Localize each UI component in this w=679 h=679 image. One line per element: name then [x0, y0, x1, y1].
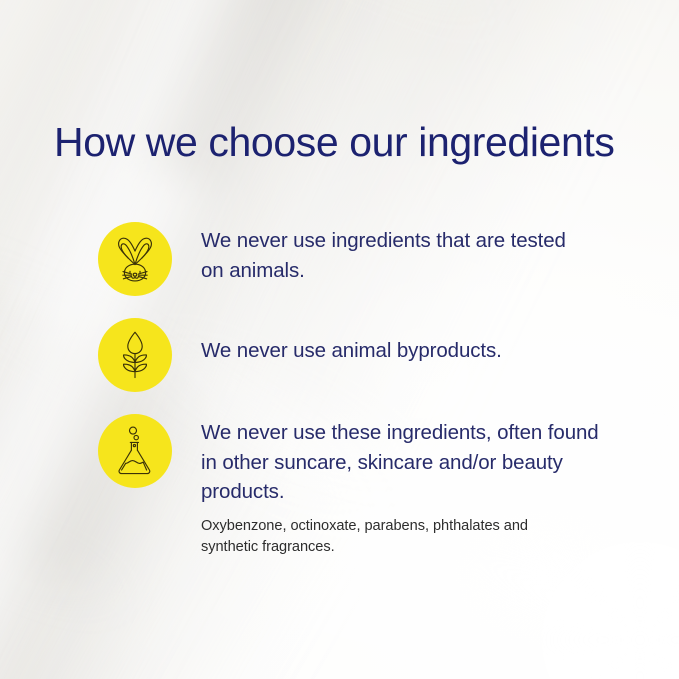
claim-subtext: Oxybenzone, octinoxate, parabens, phthal…: [201, 516, 571, 559]
claim-icon-badge: [98, 318, 172, 392]
claim-title: We never use these ingredients, often fo…: [201, 418, 601, 507]
claim-icon-badge: [98, 222, 172, 296]
claim-text-group: We never use animal byproducts.: [172, 318, 638, 366]
card-content: How we choose our ingredients: [0, 0, 679, 679]
page-title: How we choose our ingredients: [54, 120, 614, 166]
cruelty-free-bunny-icon: [113, 234, 157, 284]
list-item: We never use animal byproducts.: [98, 318, 638, 392]
ingredient-philosophy-card: How we choose our ingredients: [0, 0, 679, 679]
list-item: We never use ingredients that are tested…: [98, 222, 638, 296]
claim-text-group: We never use ingredients that are tested…: [172, 222, 638, 285]
claim-title: We never use animal byproducts.: [201, 336, 601, 366]
claims-list: We never use ingredients that are tested…: [98, 222, 638, 558]
chemistry-flask-icon: [114, 426, 156, 476]
claim-text-group: We never use these ingredients, often fo…: [172, 414, 638, 558]
claim-title: We never use ingredients that are tested…: [201, 226, 571, 285]
list-item: We never use these ingredients, often fo…: [98, 414, 638, 558]
claim-icon-badge: [98, 414, 172, 488]
plant-leaf-icon: [116, 330, 154, 380]
